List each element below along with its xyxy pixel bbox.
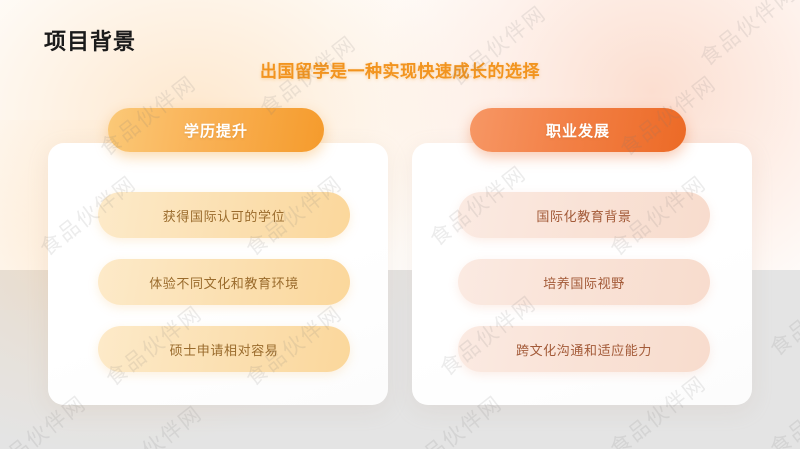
- column-header-academic[interactable]: 学历提升: [108, 108, 324, 152]
- pill-list-career: 国际化教育背景 培养国际视野 跨文化沟通和适应能力: [458, 192, 710, 372]
- list-item[interactable]: 体验不同文化和教育环境: [98, 259, 350, 305]
- list-item[interactable]: 获得国际认可的学位: [98, 192, 350, 238]
- list-item-label: 跨文化沟通和适应能力: [516, 340, 652, 359]
- list-item-label: 硕士申请相对容易: [170, 340, 279, 359]
- list-item[interactable]: 国际化教育背景: [458, 192, 710, 238]
- list-item-label: 体验不同文化和教育环境: [149, 273, 299, 292]
- list-item[interactable]: 培养国际视野: [458, 259, 710, 305]
- page-title: 项目背景: [44, 24, 136, 56]
- list-item[interactable]: 跨文化沟通和适应能力: [458, 326, 710, 372]
- list-item[interactable]: 硕士申请相对容易: [98, 326, 350, 372]
- column-header-career[interactable]: 职业发展: [470, 108, 686, 152]
- column-header-academic-label: 学历提升: [184, 120, 248, 141]
- column-header-career-label: 职业发展: [546, 120, 610, 141]
- page-subtitle: 出国留学是一种实现快速成长的选择: [0, 57, 800, 82]
- pill-list-academic: 获得国际认可的学位 体验不同文化和教育环境 硕士申请相对容易: [98, 192, 350, 372]
- list-item-label: 获得国际认可的学位: [163, 206, 285, 225]
- slide-canvas: 项目背景 出国留学是一种实现快速成长的选择 学历提升 获得国际认可的学位 体验不…: [0, 0, 800, 449]
- list-item-label: 国际化教育背景: [536, 206, 631, 225]
- list-item-label: 培养国际视野: [543, 273, 625, 292]
